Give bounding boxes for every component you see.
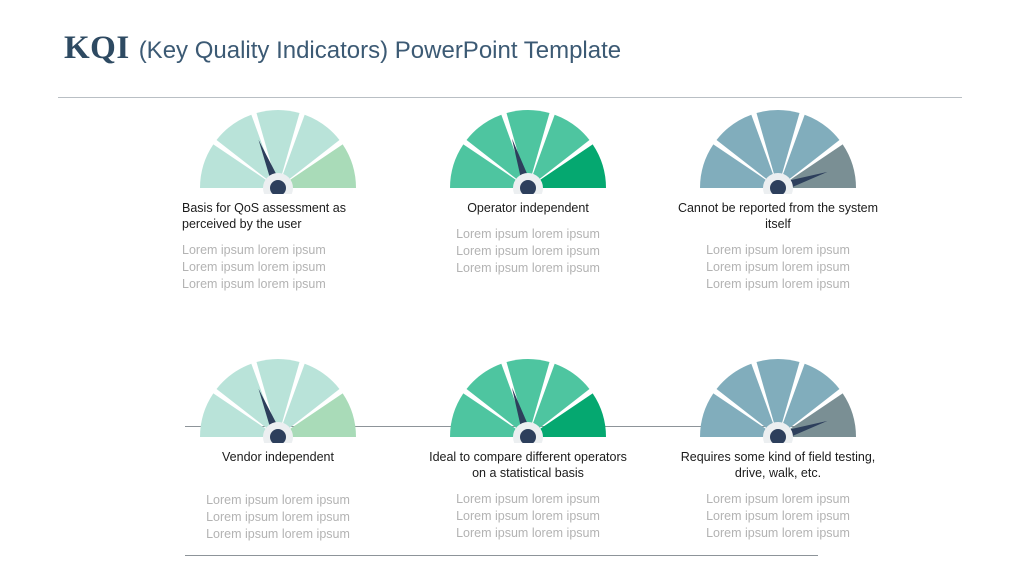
card-title: Basis for QoS assessment as perceived by… — [172, 200, 384, 232]
gauge-operator-independent[interactable] — [422, 108, 634, 194]
header-divider — [58, 97, 962, 98]
card-body: Lorem ipsum lorem ipsum Lorem ipsum lore… — [672, 242, 884, 293]
gauge-ideal-to-compare[interactable] — [422, 357, 634, 443]
card-body: Lorem ipsum lorem ipsum Lorem ipsum lore… — [172, 492, 384, 543]
body-line: Lorem ipsum lorem ipsum — [422, 226, 634, 243]
body-line: Lorem ipsum lorem ipsum — [422, 243, 634, 260]
gauge-row-1: Basis for QoS assessment as perceived by… — [0, 108, 1024, 335]
card-vendor-independent[interactable]: Vendor independent Lorem ipsum lorem ips… — [172, 357, 384, 543]
page-title: KQI(Key Quality Indicators) PowerPoint T… — [64, 30, 621, 67]
gauge-vendor-independent[interactable] — [172, 357, 384, 443]
gauge-dial — [693, 108, 863, 194]
slide-header: KQI(Key Quality Indicators) PowerPoint T… — [0, 0, 1024, 100]
gauge-dial — [443, 108, 613, 194]
gauge-cannot-be-reported[interactable] — [672, 108, 884, 194]
body-line: Lorem ipsum lorem ipsum — [422, 525, 634, 542]
body-line: Lorem ipsum lorem ipsum — [672, 242, 884, 259]
card-title: Ideal to compare different operators on … — [422, 449, 634, 481]
card-operator-independent[interactable]: Operator independent Lorem ipsum lorem i… — [422, 108, 634, 277]
gauge-dial — [443, 357, 613, 443]
body-line: Lorem ipsum lorem ipsum — [172, 492, 384, 509]
gauge-grid: Basis for QoS assessment as perceived by… — [0, 108, 1024, 562]
row-divider — [185, 555, 818, 556]
gauge-row-2: Vendor independent Lorem ipsum lorem ips… — [0, 357, 1024, 584]
gauge-dial — [193, 357, 363, 443]
body-line: Lorem ipsum lorem ipsum — [182, 259, 384, 276]
gauge-dial — [193, 108, 363, 194]
card-body: Lorem ipsum lorem ipsum Lorem ipsum lore… — [672, 491, 884, 542]
body-line: Lorem ipsum lorem ipsum — [672, 525, 884, 542]
card-title: Vendor independent — [172, 449, 384, 465]
body-line: Lorem ipsum lorem ipsum — [182, 242, 384, 259]
card-basis-for-qos[interactable]: Basis for QoS assessment as perceived by… — [172, 108, 384, 293]
card-body: Lorem ipsum lorem ipsum Lorem ipsum lore… — [172, 242, 384, 293]
card-ideal-to-compare[interactable]: Ideal to compare different operators on … — [422, 357, 634, 542]
card-cannot-be-reported[interactable]: Cannot be reported from the system itsel… — [672, 108, 884, 293]
gauge-requires-field-testing[interactable] — [672, 357, 884, 443]
body-line: Lorem ipsum lorem ipsum — [672, 259, 884, 276]
card-title: Cannot be reported from the system itsel… — [672, 200, 884, 232]
body-line: Lorem ipsum lorem ipsum — [172, 526, 384, 543]
body-line: Lorem ipsum lorem ipsum — [422, 260, 634, 277]
body-line: Lorem ipsum lorem ipsum — [672, 491, 884, 508]
slide-canvas: KQI(Key Quality Indicators) PowerPoint T… — [0, 0, 1024, 576]
title-acronym: KQI — [64, 30, 130, 66]
body-line: Lorem ipsum lorem ipsum — [672, 276, 884, 293]
gauge-basis-for-qos[interactable] — [172, 108, 384, 194]
card-body: Lorem ipsum lorem ipsum Lorem ipsum lore… — [422, 226, 634, 277]
card-requires-field-testing[interactable]: Requires some kind of field testing, dri… — [672, 357, 884, 542]
body-line: Lorem ipsum lorem ipsum — [422, 508, 634, 525]
body-line: Lorem ipsum lorem ipsum — [182, 276, 384, 293]
gauge-dial — [693, 357, 863, 443]
body-line: Lorem ipsum lorem ipsum — [422, 491, 634, 508]
card-title: Requires some kind of field testing, dri… — [672, 449, 884, 481]
body-line: Lorem ipsum lorem ipsum — [672, 508, 884, 525]
card-title: Operator independent — [422, 200, 634, 216]
body-line: Lorem ipsum lorem ipsum — [172, 509, 384, 526]
title-subtitle: (Key Quality Indicators) PowerPoint Temp… — [139, 37, 621, 64]
card-body: Lorem ipsum lorem ipsum Lorem ipsum lore… — [422, 491, 634, 542]
